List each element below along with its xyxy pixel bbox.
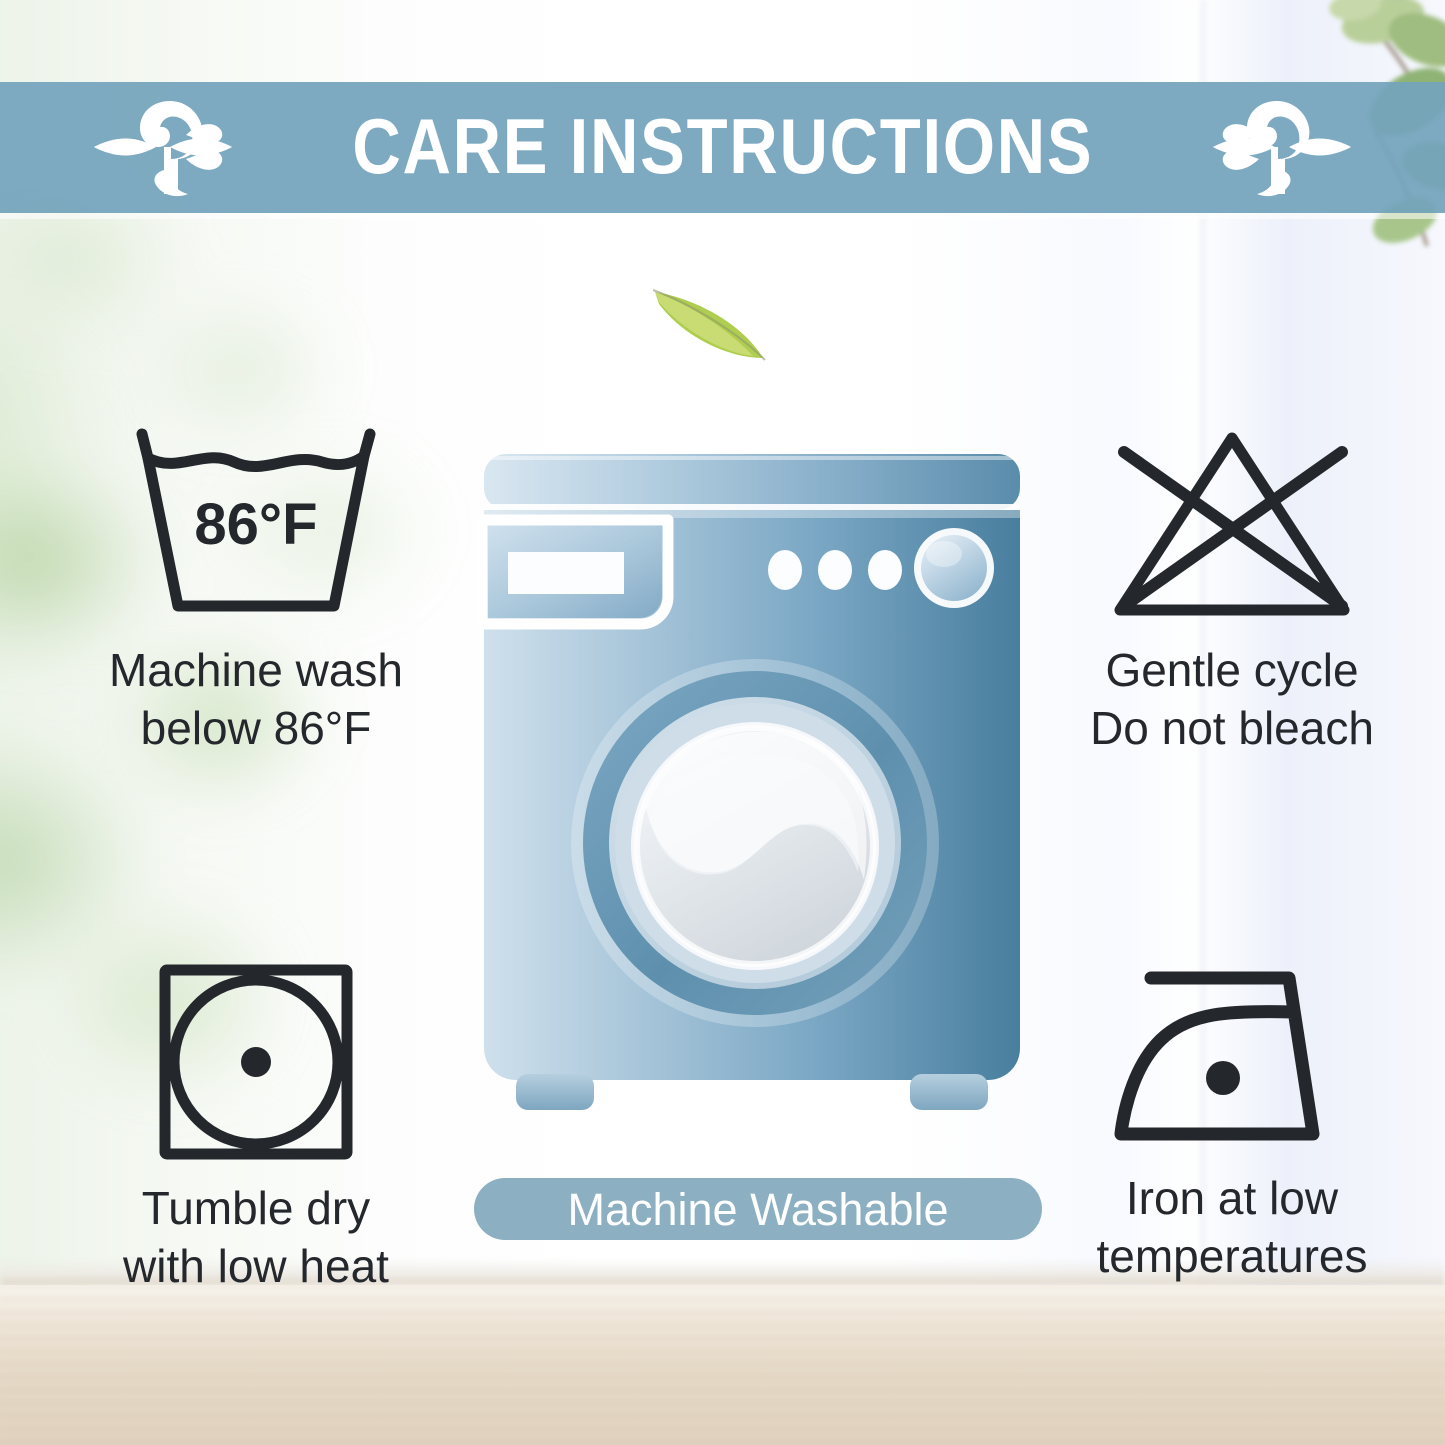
fleur-de-lis-right-icon: [1187, 95, 1377, 200]
care-symbol-machine-wash: 86°F Machine wash below 86°F: [46, 424, 466, 758]
care-caption-tumble-dry: Tumble dry with low heat: [123, 1180, 389, 1296]
machine-washable-label: Machine Washable: [567, 1187, 948, 1232]
care-caption-machine-wash: Machine wash below 86°F: [109, 642, 403, 758]
care-symbol-tumble-dry: Tumble dry with low heat: [46, 962, 466, 1296]
machine-washable-badge: Machine Washable: [474, 1178, 1042, 1240]
iron-icon: [1107, 962, 1357, 1152]
floating-leaf-icon: [645, 278, 775, 368]
machine-top-panel: [484, 454, 1020, 513]
care-symbol-iron-low: Iron at low temperatures: [1022, 962, 1442, 1286]
care-instructions-infographic: CARE INSTRUCTIONS 86°F Machine wash belo…: [0, 0, 1445, 1445]
fleur-de-lis-left-icon: [68, 95, 258, 200]
wash-temperature-value: 86°F: [194, 492, 317, 557]
control-dots: [768, 550, 902, 590]
triangle-crossed-icon: [1102, 424, 1362, 624]
machine-door: [571, 659, 939, 1027]
control-knob: [914, 528, 994, 608]
detergent-drawer: [482, 520, 668, 624]
page-title: CARE INSTRUCTIONS: [352, 107, 1093, 185]
care-caption-do-not-bleach: Gentle cycle Do not bleach: [1090, 642, 1374, 758]
tumble-dry-icon: [151, 962, 361, 1162]
care-caption-iron-low: Iron at low temperatures: [1096, 1170, 1367, 1286]
header-banner: CARE INSTRUCTIONS: [0, 82, 1445, 213]
wash-tub-icon: 86°F: [126, 424, 386, 624]
table-wood-grain: [0, 1285, 1445, 1445]
washing-machine-illustration: [472, 448, 1032, 1138]
care-symbol-do-not-bleach: Gentle cycle Do not bleach: [1022, 424, 1442, 758]
banner-underline: [0, 213, 1445, 219]
